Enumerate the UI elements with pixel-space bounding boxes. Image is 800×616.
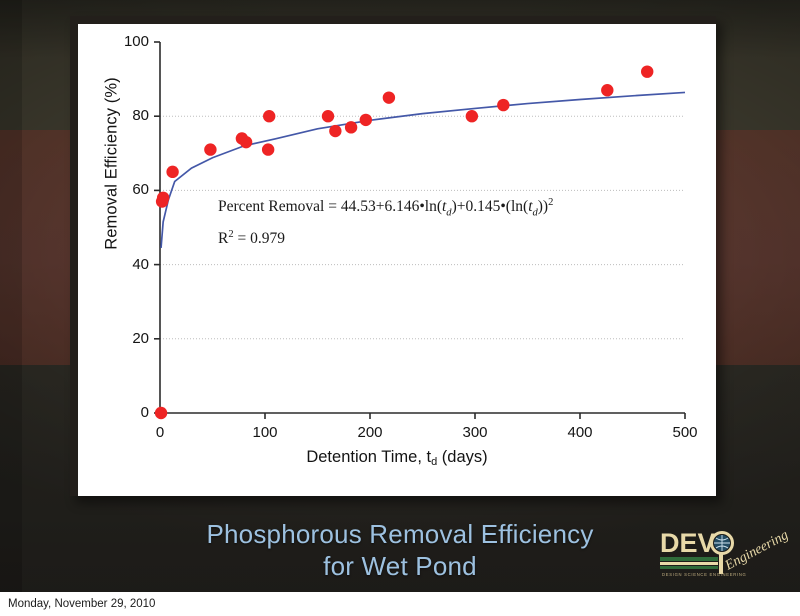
x-tick-label-0: 0 [130,425,190,440]
logo-bar-gold [660,562,718,565]
fitted-curve [161,92,685,247]
data-point-7 [263,110,275,122]
x-axis-title: Detention Time, td (days) [78,448,716,468]
data-point-9 [322,110,334,122]
equation-ln-1: ln( [425,198,442,215]
x-tick-label-200: 200 [340,425,400,440]
data-point-8 [262,143,274,155]
data-point-12 [360,114,372,126]
data-point-14 [466,110,478,122]
data-point-13 [383,91,395,103]
equation-coef-a: 44.53 [341,198,376,215]
r-squared-equals: = [237,230,246,247]
devo-engineering-logo: DEV DESIGN SCIENCE ENGINEERING Engineeri… [656,522,794,584]
data-point-2 [157,192,169,204]
r-squared-symbol: R [218,230,228,247]
data-point-10 [329,125,341,137]
y-axis-title: Removal Efficiency (%) [103,34,122,294]
equation-exponent-2: 2 [548,197,553,208]
data-point-17 [641,65,653,77]
y-tick-label-60: 60 [105,182,149,197]
data-point-11 [345,121,357,133]
x-tick-label-500: 500 [655,425,715,440]
logo-script-text: Engineering [722,528,791,574]
logo-brand-text: DEV [660,528,716,558]
data-point-4 [204,143,216,155]
chart-card: Removal Efficiency (%) Detention Time, t… [78,24,716,496]
y-tick-label-20: 20 [105,331,149,346]
x-axis-title-units: (days) [437,448,487,466]
data-point-15 [497,99,509,111]
x-tick-label-300: 300 [445,425,505,440]
equation-coef-b: 6.146 [384,198,419,215]
data-point-16 [601,84,613,96]
x-tick-label-100: 100 [235,425,295,440]
x-tick-label-400: 400 [550,425,610,440]
data-point-6 [240,136,252,148]
x-axis-title-text: Detention Time, t [306,448,431,466]
y-tick-label-0: 0 [105,405,149,420]
logo-graphic: DEV DESIGN SCIENCE ENGINEERING Engineeri… [656,522,794,584]
logo-bar-green-2 [660,566,718,569]
data-point-0 [155,407,167,419]
equation-ln-2: (ln( [506,198,528,215]
equation-lhs: Percent Removal [218,198,324,215]
r-squared-annotation: R2 = 0.979 [218,229,285,248]
y-tick-label-100: 100 [105,34,149,49]
presentation-slide: Removal Efficiency (%) Detention Time, t… [0,0,800,616]
equation-close-2: )) [538,198,548,215]
r-squared-value: 0.979 [250,230,285,247]
logo-vertical-bar [719,552,723,574]
footer-date: Monday, November 29, 2010 [8,598,155,610]
logo-tagline-text: DESIGN SCIENCE ENGINEERING [662,572,747,577]
logo-bar-green [660,557,718,561]
equation-coef-c: 0.145 [465,198,500,215]
scatter-plot: Removal Efficiency (%) Detention Time, t… [78,24,716,496]
r-squared-exponent: 2 [228,229,233,240]
regression-equation: Percent Removal = 44.53+6.146•ln(td)+0.1… [218,197,553,218]
y-tick-label-80: 80 [105,108,149,123]
equation-equals: = [328,198,337,215]
y-tick-label-40: 40 [105,257,149,272]
data-point-3 [166,166,178,178]
